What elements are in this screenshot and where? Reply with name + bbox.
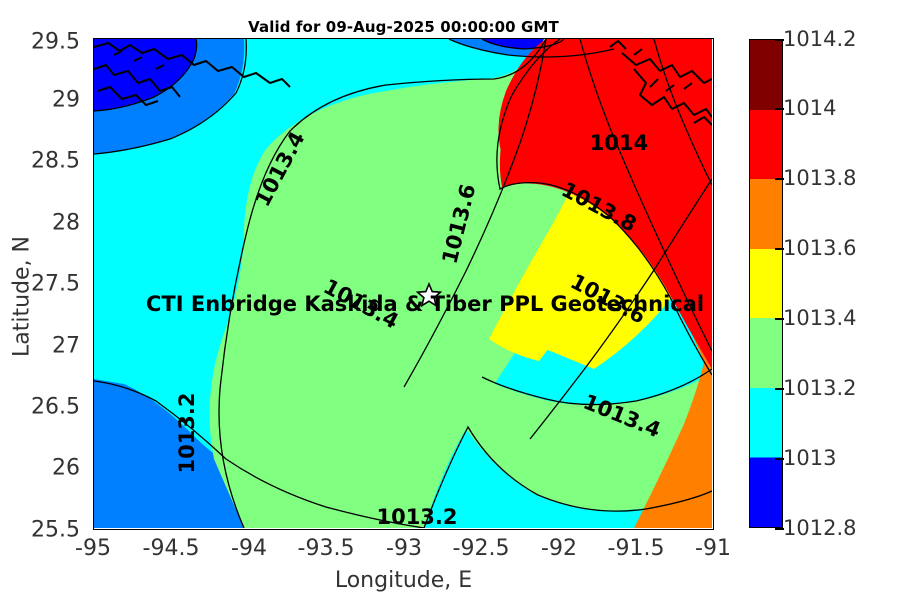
x-axis-label: Longitude, E: [93, 568, 714, 593]
x-tick: -95: [75, 536, 111, 561]
colorbar-tick: 1013.6: [783, 236, 856, 260]
colorbar-tick: 1013.2: [783, 376, 856, 400]
colorbar-band-1014.2: [750, 40, 782, 110]
x-tick: -93.5: [298, 536, 355, 561]
y-tick: 27.5: [31, 272, 80, 297]
y-tick: 29.5: [31, 30, 80, 55]
contour-label: 1014: [590, 131, 648, 155]
x-tick: -91: [695, 536, 731, 561]
colorbar-tick: 1013: [783, 446, 836, 470]
colorbar-band-1013.2: [750, 388, 782, 458]
figure: Valid for 09-Aug-2025 00:00:00 GMT: [0, 0, 900, 600]
y-axis-label: Latitude, N: [10, 107, 35, 487]
colorbar-band-1012.8: [749, 458, 783, 528]
plot-area: 1013.4 1013.6 1013.8 1014 1013.4 1013.6 …: [93, 38, 714, 530]
colorbar-band-1013.6: [750, 249, 782, 319]
y-tick: 27: [52, 334, 80, 359]
y-tick: 26.5: [31, 395, 80, 420]
colorbar-tick: 1013.4: [783, 306, 856, 330]
colorbar-tick: 1013.8: [783, 166, 856, 190]
colorbar: [749, 39, 783, 528]
y-tick: 25.5: [31, 518, 80, 543]
x-tick: -92.5: [453, 536, 510, 561]
y-tick: 26: [52, 456, 80, 481]
x-tick: -93: [386, 536, 422, 561]
x-tick: -94: [231, 536, 267, 561]
y-tick: 28: [52, 211, 80, 236]
y-tick: 28.5: [31, 149, 80, 174]
colorbar-band-1013.4: [750, 318, 782, 388]
x-tick: -92: [541, 536, 577, 561]
colorbar-tick: 1012.8: [783, 516, 856, 540]
contour-label: 1013.2: [376, 505, 457, 529]
y-tick: 29: [52, 88, 80, 113]
colorbar-band-1014.0: [750, 110, 782, 180]
x-tick: -91.5: [608, 536, 665, 561]
colorbar-tick: 1014: [783, 96, 836, 120]
colorbar-tick: 1014.2: [783, 27, 856, 51]
contour-label: 1013.2: [175, 392, 199, 473]
chart-title: Valid for 09-Aug-2025 00:00:00 GMT: [93, 18, 714, 36]
x-tick: -94.5: [143, 536, 200, 561]
colorbar-band-1013.8: [750, 179, 782, 249]
site-annotation: CTI Enbridge Kaskida & Tiber PPL Geotech…: [146, 292, 704, 316]
